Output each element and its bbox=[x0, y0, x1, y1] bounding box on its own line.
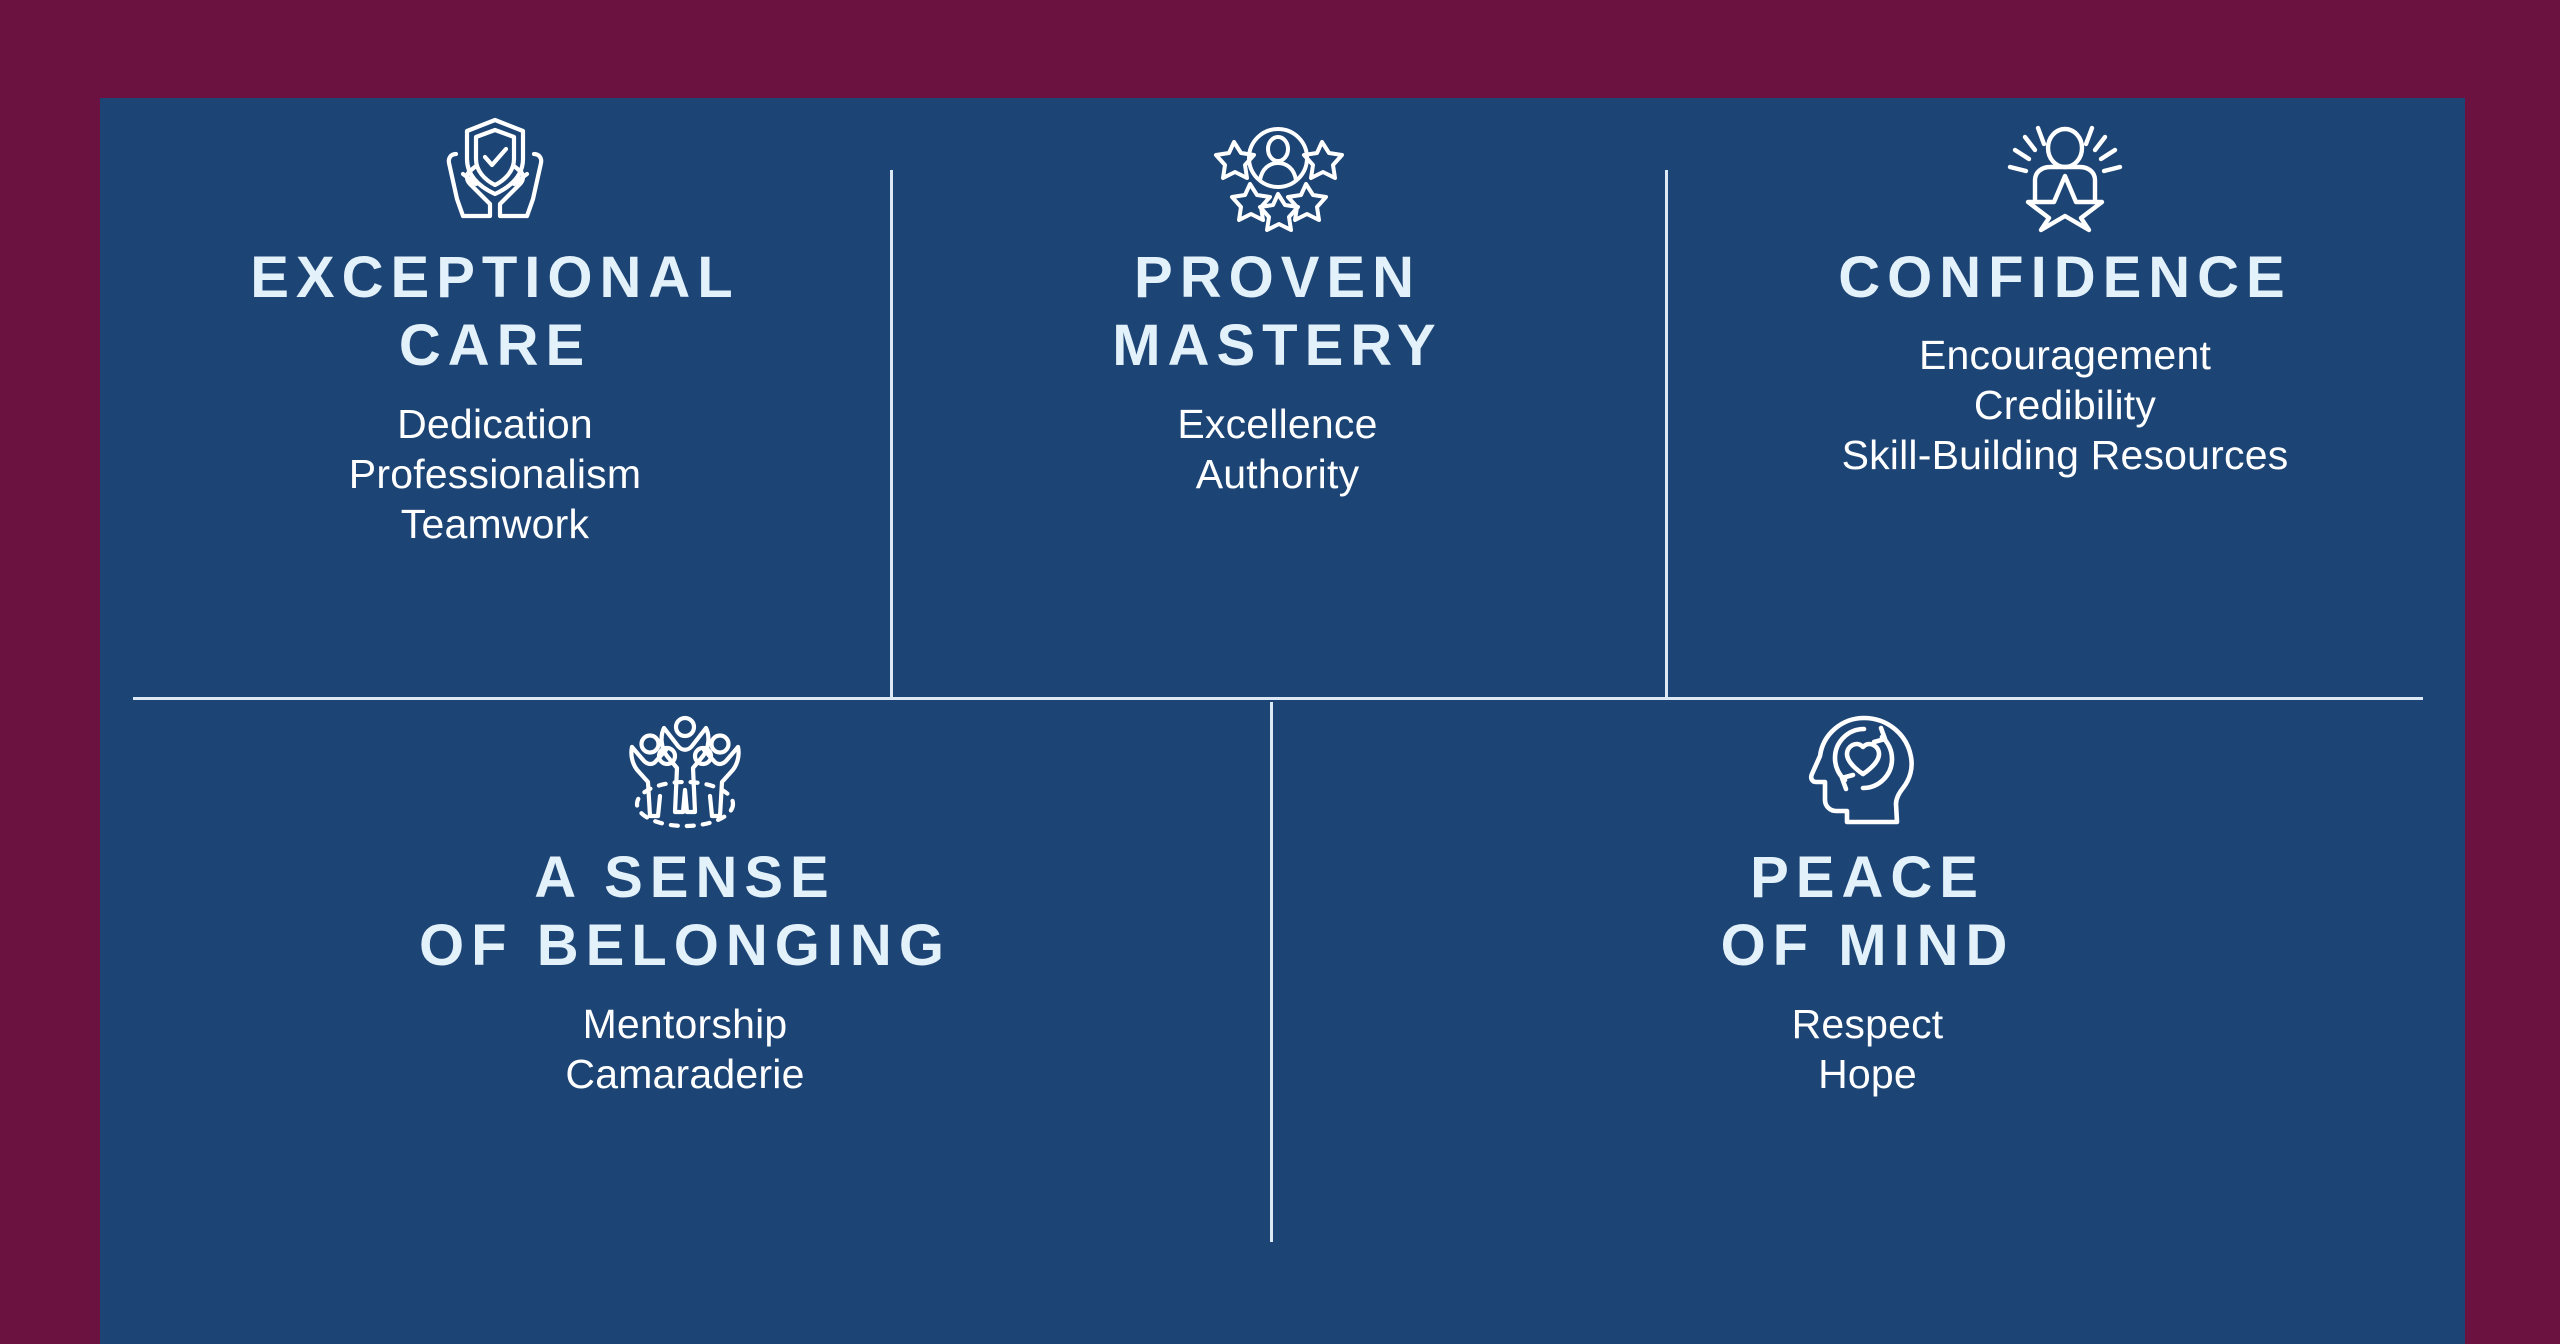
vertical-divider-3 bbox=[1270, 702, 1273, 1242]
value-card-heading: PEACE OF MIND bbox=[1721, 844, 2015, 981]
group-of-people-icon bbox=[623, 708, 747, 830]
shield-in-hands-icon bbox=[430, 108, 560, 230]
horizontal-divider bbox=[133, 697, 2423, 700]
value-item: Camaraderie bbox=[565, 1049, 804, 1099]
value-card-items: Dedication Professionalism Teamwork bbox=[349, 399, 641, 549]
value-item: Teamwork bbox=[349, 499, 641, 549]
value-item: Skill-Building Resources bbox=[1842, 430, 2289, 480]
value-card-exceptional-care: EXCEPTIONAL CARE Dedication Professional… bbox=[100, 98, 890, 549]
value-card-heading: EXCEPTIONAL CARE bbox=[250, 244, 740, 381]
value-item: Hope bbox=[1792, 1049, 1944, 1099]
value-card-proven-mastery: PROVEN MASTERY Excellence Authority bbox=[890, 98, 1665, 499]
vertical-divider-1 bbox=[890, 170, 893, 698]
value-item: Respect bbox=[1792, 999, 1944, 1049]
value-card-peace-of-mind: PEACE OF MIND Respect Hope bbox=[1270, 698, 2465, 1099]
value-card-heading: PROVEN MASTERY bbox=[1112, 244, 1442, 381]
value-card-items: Encouragement Credibility Skill-Building… bbox=[1842, 330, 2289, 480]
outer-border: EXCEPTIONAL CARE Dedication Professional… bbox=[0, 0, 2560, 1344]
vertical-divider-2 bbox=[1665, 170, 1668, 698]
value-card-heading: A SENSE OF BELONGING bbox=[419, 844, 951, 981]
value-item: Authority bbox=[1177, 449, 1377, 499]
values-panel: EXCEPTIONAL CARE Dedication Professional… bbox=[100, 98, 2465, 1344]
value-item: Professionalism bbox=[349, 449, 641, 499]
value-item: Credibility bbox=[1842, 380, 2289, 430]
value-item: Dedication bbox=[349, 399, 641, 449]
value-item: Mentorship bbox=[565, 999, 804, 1049]
value-card-items: Mentorship Camaraderie bbox=[565, 999, 804, 1099]
value-card-items: Respect Hope bbox=[1792, 999, 1944, 1099]
head-with-heart-icon bbox=[1809, 708, 1927, 830]
value-card-items: Excellence Authority bbox=[1177, 399, 1377, 499]
value-card-confidence: CONFIDENCE Encouragement Credibility Ski… bbox=[1665, 98, 2465, 480]
value-item: Encouragement bbox=[1842, 330, 2289, 380]
person-shining-star-icon bbox=[1998, 108, 2132, 230]
value-card-sense-of-belonging: A SENSE OF BELONGING Mentorship Camarade… bbox=[100, 698, 1270, 1099]
value-card-heading: CONFIDENCE bbox=[1838, 244, 2291, 312]
person-with-stars-icon bbox=[1214, 108, 1342, 230]
value-item: Excellence bbox=[1177, 399, 1377, 449]
